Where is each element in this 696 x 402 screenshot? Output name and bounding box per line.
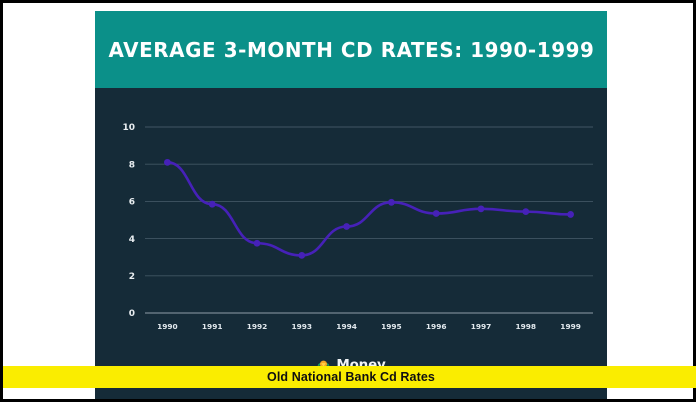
x-axis-tick-labels: 1990199119921993199419951996199719981999	[157, 322, 581, 331]
page-frame: AVERAGE 3-MONTH CD RATES: 1990-1999 0246…	[3, 3, 693, 399]
y-axis-tick-labels: 0246810	[122, 123, 135, 319]
data-point-marker	[478, 205, 485, 212]
y-tick-label: 0	[129, 309, 135, 319]
data-point-marker	[388, 199, 395, 206]
chart-gridlines	[145, 127, 593, 313]
data-point-marker	[522, 208, 529, 215]
x-tick-label: 1994	[336, 322, 357, 331]
y-tick-label: 4	[129, 235, 135, 245]
chart-header-banner: AVERAGE 3-MONTH CD RATES: 1990-1999	[95, 11, 607, 88]
x-tick-label: 1990	[157, 322, 178, 331]
infographic-panel: AVERAGE 3-MONTH CD RATES: 1990-1999 0246…	[95, 11, 607, 399]
chart-title: AVERAGE 3-MONTH CD RATES: 1990-1999	[108, 38, 594, 62]
caption-text: Old National Bank Cd Rates	[267, 370, 435, 384]
data-point-marker	[567, 211, 574, 218]
line-chart-svg: 0246810 19901991199219931994199519961997…	[95, 88, 607, 358]
chart-plot-area: 0246810 19901991199219931994199519961997…	[95, 88, 607, 358]
y-tick-label: 6	[129, 198, 135, 208]
data-point-marker	[254, 240, 261, 247]
x-tick-label: 1999	[560, 322, 581, 331]
data-point-marker	[164, 159, 171, 166]
x-tick-label: 1993	[292, 322, 313, 331]
data-point-marker	[433, 210, 440, 217]
x-tick-label: 1991	[202, 322, 223, 331]
x-tick-label: 1995	[381, 322, 402, 331]
caption-bar: Old National Bank Cd Rates	[3, 366, 696, 388]
y-tick-label: 8	[129, 160, 135, 170]
x-tick-label: 1996	[426, 322, 447, 331]
chart-series-group	[164, 159, 574, 259]
data-point-marker	[298, 252, 305, 259]
y-tick-label: 2	[129, 272, 135, 282]
x-tick-label: 1998	[516, 322, 537, 331]
x-tick-label: 1997	[471, 322, 492, 331]
series-line	[167, 162, 570, 255]
data-point-marker	[343, 223, 350, 230]
x-tick-label: 1992	[247, 322, 268, 331]
data-point-marker	[209, 201, 216, 208]
y-tick-label: 10	[122, 123, 135, 133]
